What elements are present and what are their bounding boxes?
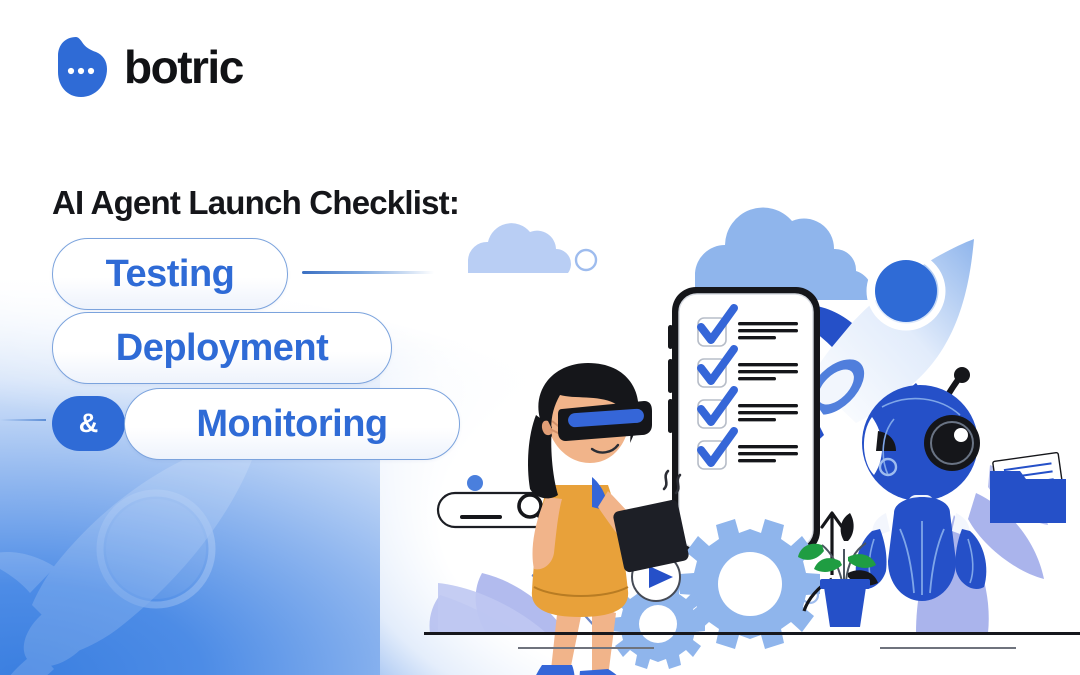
ampersand-badge: &: [52, 396, 125, 451]
brand-name: botric: [124, 44, 243, 90]
folder-icon: [990, 452, 1066, 523]
cloud-small-icon: [468, 223, 571, 273]
pill-monitoring[interactable]: Monitoring: [124, 388, 460, 460]
brand-logo[interactable]: botric: [52, 36, 243, 98]
pill-deployment[interactable]: Deployment: [52, 312, 392, 384]
illustration-scene: [420, 175, 1080, 650]
leaf: [841, 513, 854, 541]
cloud-large-icon: [695, 208, 873, 300]
pill-testing-label: Testing: [106, 253, 235, 296]
accent-rule-left: [0, 419, 46, 421]
phone-checklist-icon: [668, 287, 820, 555]
ampersand-label: &: [79, 408, 99, 439]
ground-shadow-line: [518, 647, 654, 649]
botric-droplet-logo-icon: [52, 36, 108, 98]
rocket-watermark-icon: [0, 455, 260, 675]
title-rule: [302, 271, 434, 274]
pill-testing[interactable]: Testing: [52, 238, 288, 310]
pill-deployment-label: Deployment: [116, 327, 328, 370]
pill-monitoring-label: Monitoring: [196, 403, 387, 446]
page-title: AI Agent Launch Checklist:: [52, 184, 459, 222]
ground-shadow-line: [880, 647, 1016, 649]
dot-icon: [467, 475, 483, 491]
poster-canvas: botric AI Agent Launch Checklist: Testin…: [0, 0, 1080, 675]
ground-line: [424, 632, 1080, 635]
ring-dot-icon: [576, 250, 596, 270]
